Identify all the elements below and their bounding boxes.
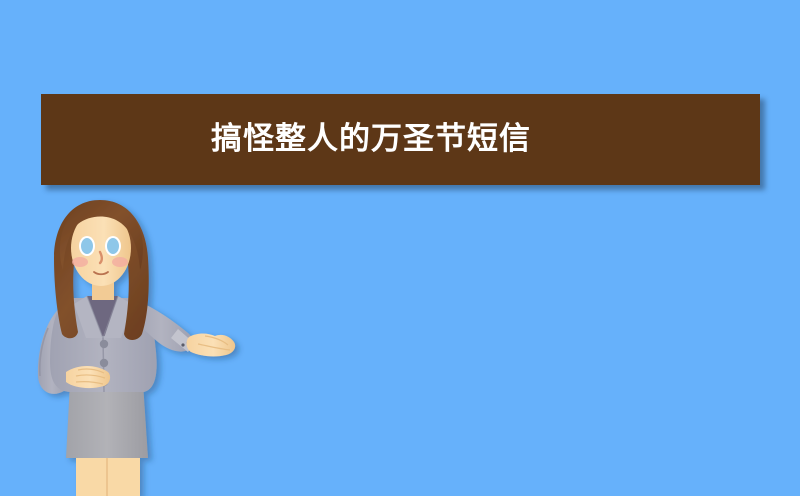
slide-canvas: 搞怪整人的万圣节短信 <box>0 0 800 496</box>
jacket-button <box>100 359 108 367</box>
right-hand <box>187 334 236 357</box>
cheek-left <box>72 257 88 267</box>
title-banner: 搞怪整人的万圣节短信 <box>41 94 760 185</box>
businesswoman-illustration <box>8 186 278 496</box>
skirt <box>66 383 148 458</box>
jacket-button <box>100 340 108 348</box>
page-title: 搞怪整人的万圣节短信 <box>211 124 531 155</box>
cheek-right <box>112 257 128 267</box>
